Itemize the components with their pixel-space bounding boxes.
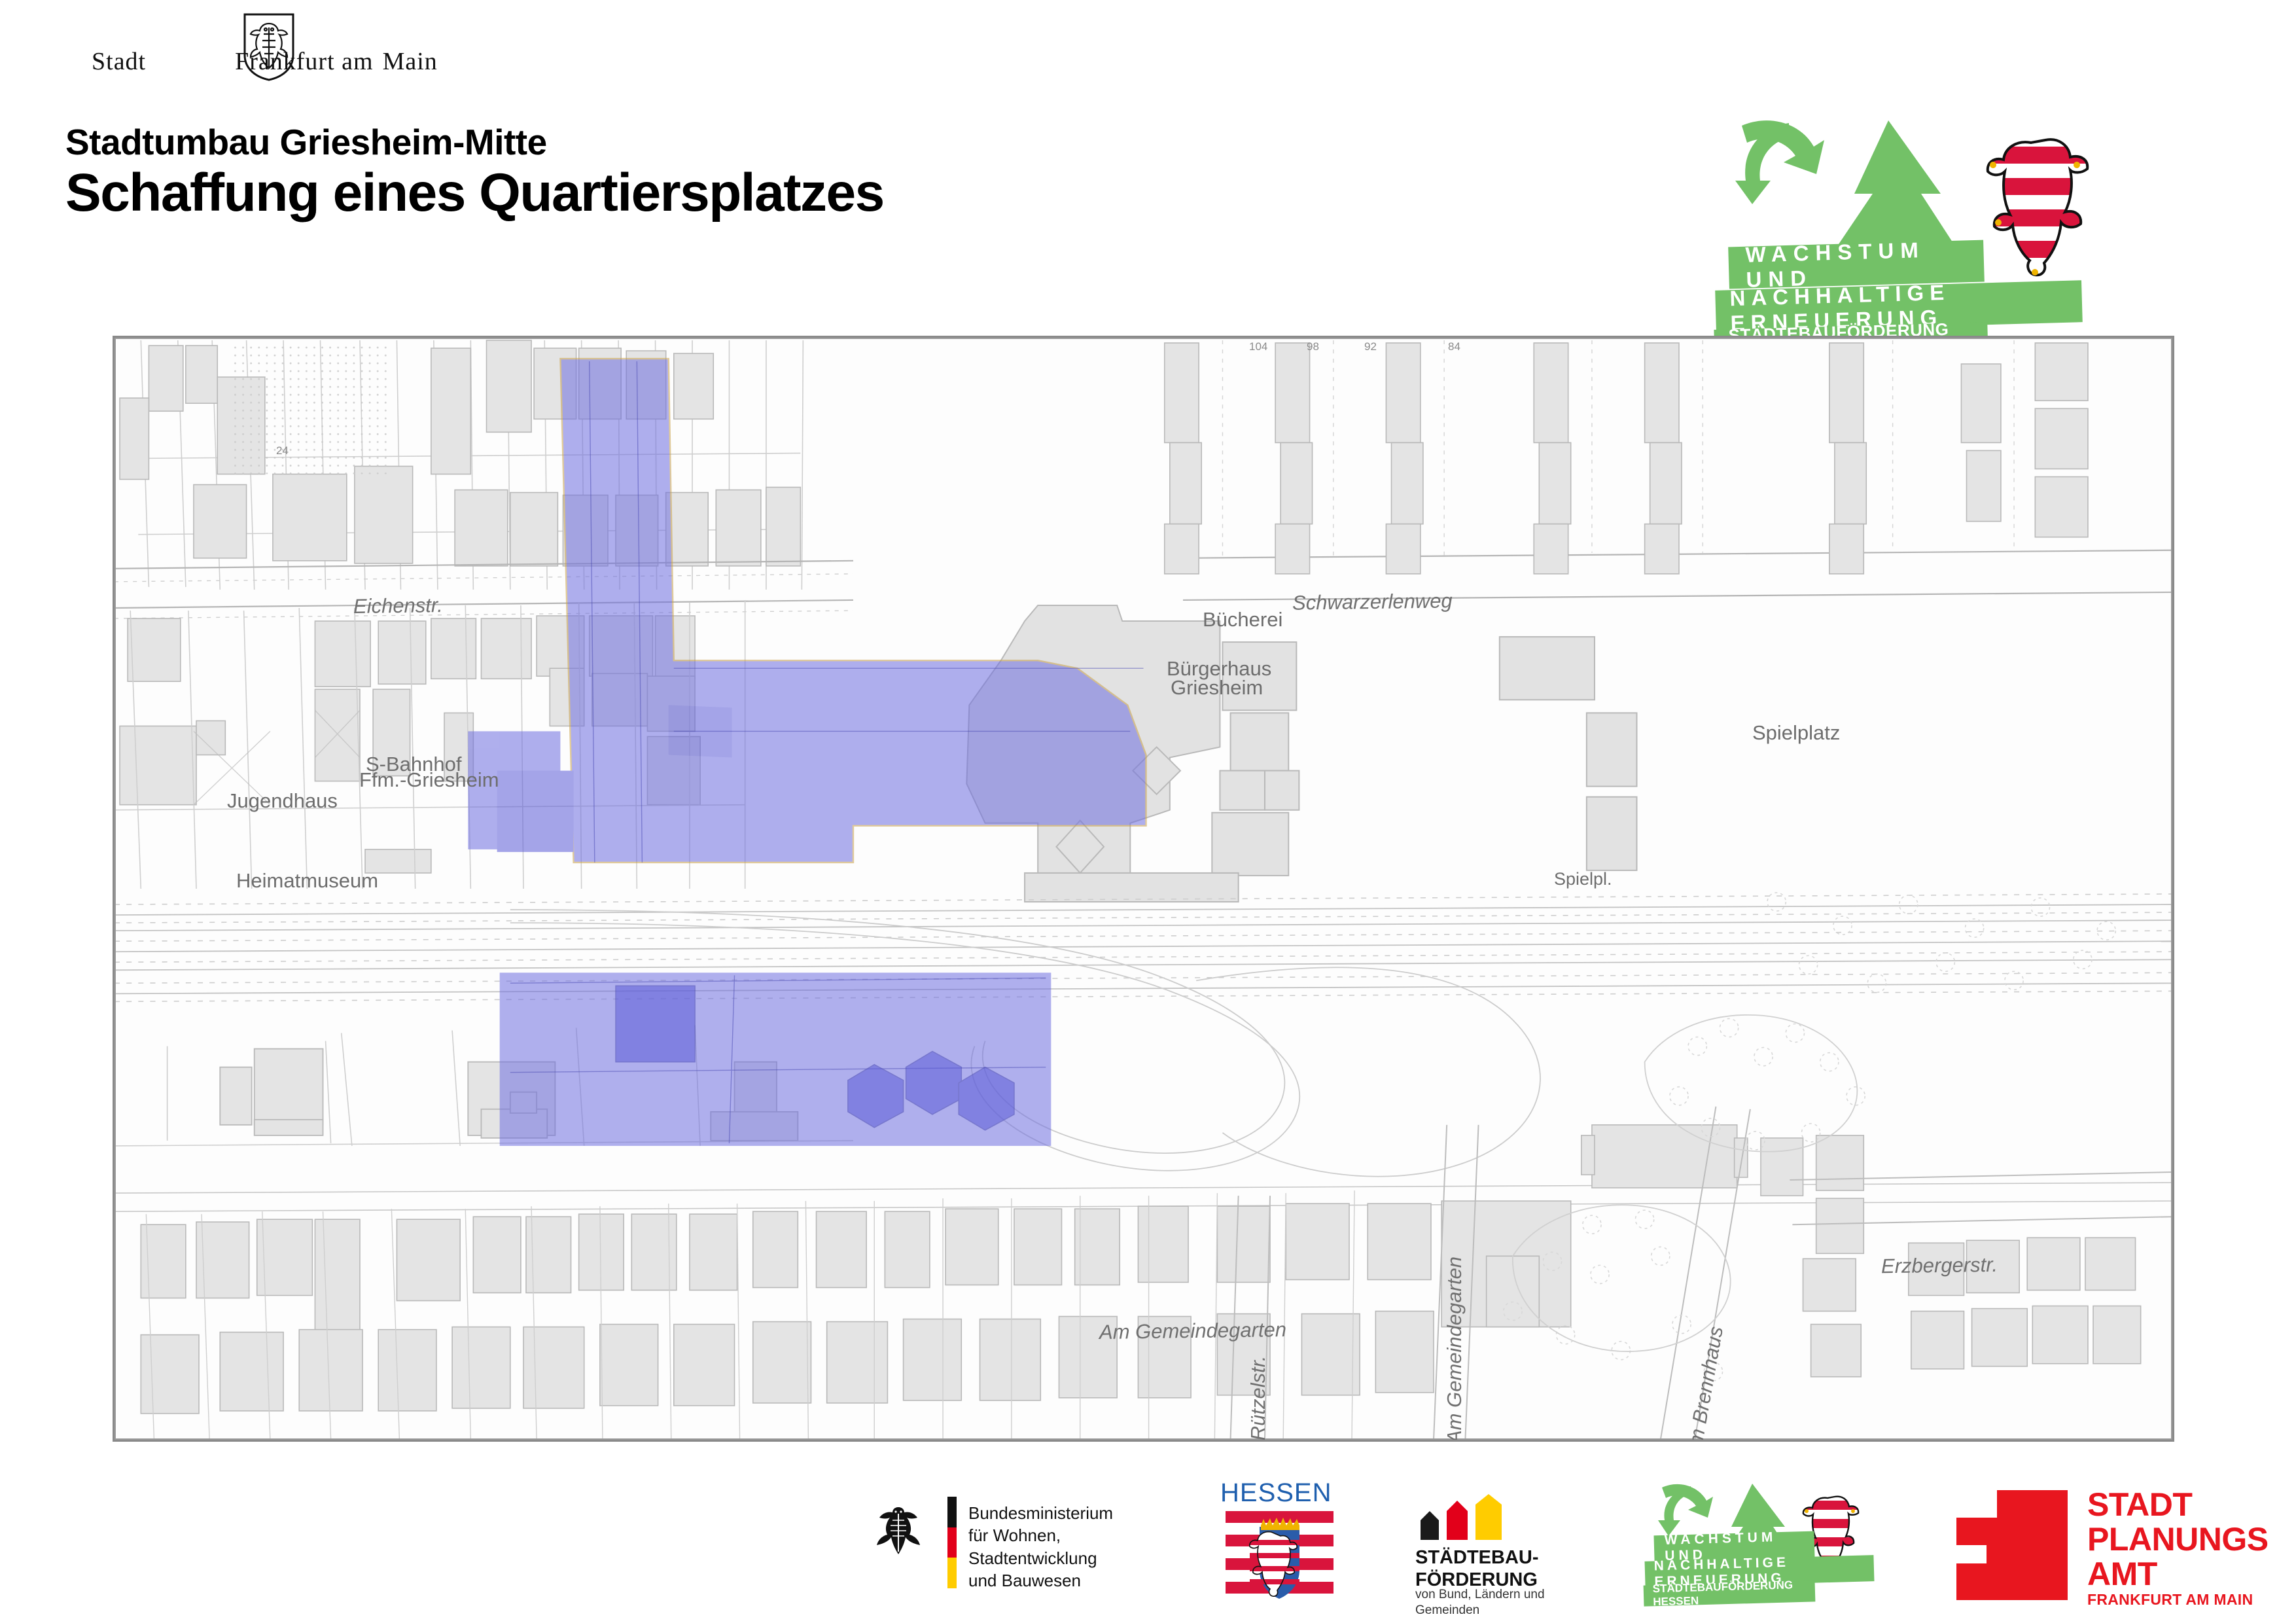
bmwsb-line1: Bundesministerium bbox=[968, 1502, 1184, 1524]
poi-label-buecherei: Bücherei bbox=[1203, 608, 1282, 632]
hessen-coat-of-arms-icon bbox=[1226, 1510, 1333, 1605]
city-of-frankfurt-logo: Stadt Frankfurt am Main bbox=[92, 27, 510, 93]
street-label-eichenstr: Eichenstr. bbox=[353, 594, 443, 618]
street-label-obere-ruetzelstr: Obere Rützelstr. bbox=[1246, 1355, 1270, 1442]
bmwsb-text: Bundesministerium für Wohnen, Stadtentwi… bbox=[968, 1502, 1184, 1592]
wachstum-logo-small: WACHSTUM UND NACHHALTIGE ERNEUERUNG STÄD… bbox=[1636, 1476, 1911, 1607]
page-title: Schaffung eines Quartiersplatzes bbox=[65, 162, 884, 224]
stadtplanungsamt-block-mark-icon bbox=[1956, 1490, 2068, 1600]
house-number: 84 bbox=[1448, 340, 1460, 353]
street-label-am-gemeindegarten: Am Gemeindegarten bbox=[1099, 1318, 1287, 1344]
street-label-am-gemeindegarten-vertical: Am Gemeindegarten bbox=[1443, 1257, 1466, 1442]
staedtebau-subtitle: von Bund, Ländern und Gemeinden bbox=[1415, 1587, 1545, 1618]
project-subtitle: Stadtumbau Griesheim-Mitte bbox=[65, 121, 547, 163]
german-flag-bar-icon bbox=[947, 1497, 957, 1588]
city-logo-wordmark: Stadt Frankfurt am Main bbox=[92, 39, 510, 81]
spa-line1: STADT bbox=[2087, 1488, 2269, 1522]
stadtplanungsamt-logo: STADT PLANUNGS AMT FRANKFURT AM MAIN bbox=[1956, 1476, 2257, 1607]
hessen-lion-icon bbox=[1983, 131, 2100, 281]
recycling-arrow-tree-icon bbox=[1733, 118, 1981, 255]
bundesadler-icon bbox=[870, 1503, 927, 1560]
staedtebau-sub2: Gemeinden bbox=[1415, 1603, 1545, 1618]
bmwsb-logo: Bundesministerium für Wohnen, Stadtentwi… bbox=[870, 1476, 1184, 1607]
poi-label-jugendhaus: Jugendhaus bbox=[227, 789, 338, 813]
map-vector-layer bbox=[115, 338, 2172, 1440]
logo-word-frankfurt: Frankfurt am bbox=[235, 48, 373, 75]
poi-label-ffm-griesheim: Ffm.-Griesheim bbox=[359, 768, 499, 792]
bmwsb-line3: und Bauwesen bbox=[968, 1569, 1184, 1592]
funding-logos-footer: Bundesministerium für Wohnen, Stadtentwi… bbox=[0, 1476, 2296, 1623]
street-label-schwarzerlenweg: Schwarzerlenweg bbox=[1292, 589, 1453, 615]
house-number: 92 bbox=[1364, 340, 1377, 353]
stadtplanungsamt-wordmark: STADT PLANUNGS AMT bbox=[2087, 1488, 2269, 1592]
poi-label-griesheim: Griesheim bbox=[1171, 676, 1263, 700]
spa-line2: PLANUNGS bbox=[2087, 1522, 2269, 1557]
staedtebau-sub1: von Bund, Ländern und bbox=[1415, 1587, 1545, 1603]
spa-subtitle: FRANKFURT AM MAIN bbox=[2087, 1591, 2253, 1609]
staedtebaufoerderung-logo: STÄDTEBAU- FÖRDERUNG von Bund, Ländern u… bbox=[1410, 1476, 1606, 1607]
staedtebau-title: STÄDTEBAU- FÖRDERUNG bbox=[1415, 1546, 1539, 1591]
cadastral-map[interactable]: Eichenstr. Schwarzerlenweg Erzbergerstr.… bbox=[113, 336, 2174, 1442]
page-header: Stadt Frankfurt am Main Stadtumbau Gries… bbox=[0, 0, 2296, 308]
house-number: 24 bbox=[276, 444, 289, 457]
three-houses-icon bbox=[1417, 1494, 1518, 1540]
logo-word-main: Main bbox=[383, 48, 438, 75]
poi-label-heimatmuseum: Heimatmuseum bbox=[236, 869, 378, 893]
poi-label-spielplatz: Spielplatz bbox=[1752, 721, 1840, 745]
house-number: 104 bbox=[1249, 340, 1267, 353]
staedtebau-line1: STÄDTEBAU- bbox=[1415, 1546, 1539, 1569]
spa-line3: AMT bbox=[2087, 1557, 2269, 1592]
hessen-state-logo: HESSEN bbox=[1220, 1476, 1341, 1607]
street-label-erzbergerstr: Erzbergerstr. bbox=[1881, 1253, 1998, 1278]
logo-word-stadt: Stadt bbox=[92, 48, 146, 75]
house-number: 98 bbox=[1307, 340, 1319, 353]
bmwsb-line2: für Wohnen, Stadtentwicklung bbox=[968, 1524, 1184, 1569]
wachstum-small-line3: STÄDTEBAUFÖRDERUNG HESSEN bbox=[1644, 1580, 1816, 1606]
poi-label-spielpl: Spielpl. bbox=[1554, 869, 1612, 889]
hessen-wordmark: HESSEN bbox=[1220, 1478, 1332, 1508]
